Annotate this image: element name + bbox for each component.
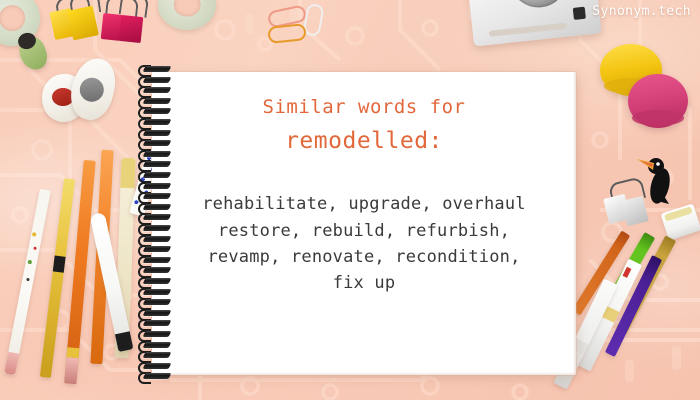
synonym-line: rehabilitate, upgrade, overhaul xyxy=(202,191,525,217)
binder-clip-silver-icon xyxy=(604,188,652,224)
binder-clip-yellow-icon xyxy=(48,2,104,44)
card-title: Similar words for xyxy=(263,96,466,120)
synonym-list: rehabilitate, upgrade, overhaulrestore, … xyxy=(202,191,525,296)
site-watermark: Synonym.tech xyxy=(592,4,691,19)
binder-clip-pink-icon xyxy=(100,4,152,46)
card-headword: remodelled: xyxy=(285,128,443,156)
synonym-line: revamp, renovate, recondition, xyxy=(202,244,525,270)
synonym-line: fix up xyxy=(202,270,525,296)
macaron-pink-icon xyxy=(628,74,688,128)
synonym-line: restore, rebuild, refurbish, xyxy=(202,218,525,244)
card-content: Similar words for remodelled: rehabilita… xyxy=(152,72,576,375)
synonym-card-screenshot: Similar words for remodelled: rehabilita… xyxy=(0,0,700,400)
